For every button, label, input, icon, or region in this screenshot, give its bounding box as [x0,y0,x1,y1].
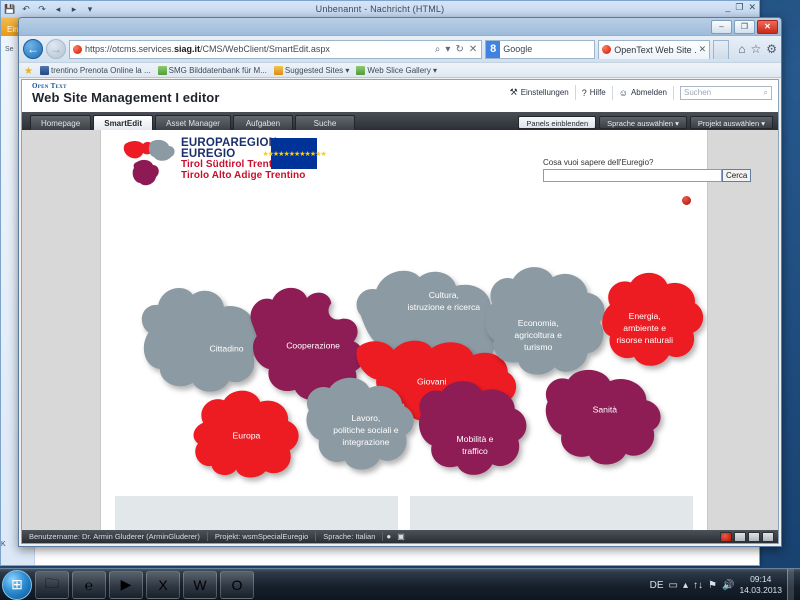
taskbar-item-excel[interactable]: X [146,571,180,599]
network-icon[interactable]: ↑↓ [693,580,703,591]
favorite-item-3[interactable]: Web Slice Gallery ▾ [356,66,437,75]
favorite-icon [40,66,49,75]
euregio-puzzle-logo-icon [123,138,179,190]
address-bar[interactable]: https://otcms.services.siag.it/CMS/WebCl… [69,40,482,59]
favorite-label: SMG Bilddatenbank für M... [169,66,267,75]
outlook-restore-icon[interactable]: ❐ [735,2,743,13]
site-search-row[interactable]: Cerca [543,169,693,182]
help-label: Hilfe [590,88,606,97]
taskbar-item-media-player[interactable]: ▶ [109,571,143,599]
site-search-input[interactable] [543,169,722,182]
clock-time: 09:14 [750,574,771,584]
volume-icon[interactable]: 🔊 [722,580,734,591]
url-path: /CMS/WebClient/SmartEdit.aspx [200,44,330,54]
favorite-icon [158,66,167,75]
status-username: Benutzername: Dr. Armin Gluderer (ArminG… [27,532,208,541]
favorite-item-2[interactable]: Suggested Sites ▾ [274,66,350,75]
forward-button[interactable]: → [46,39,66,59]
browser-titlebar[interactable]: – ❐ ✕ [19,18,781,36]
opentext-tabbar[interactable]: Homepage SmartEdit Asset Manager Aufgabe… [22,112,778,130]
search-icon[interactable]: ⌕ [764,88,768,98]
windows-taskbar[interactable]: ⊞ 🗀 ℮ ▶ X W O DE ▭ ▴ ↑↓ ⚑ 🔊 09:14 14.03.… [0,568,800,600]
label-lavoro-3: integrazione [342,437,389,447]
browser-window-buttons[interactable]: – ❐ ✕ [711,20,778,34]
battery-icon[interactable]: ▭ [669,580,678,591]
keyboard-language-indicator[interactable]: DE [650,580,664,591]
address-bar-url[interactable]: https://otcms.services.siag.it/CMS/WebCl… [85,44,431,54]
chevron-down-icon[interactable]: ▾ [444,44,451,55]
tab-homepage[interactable]: Homepage [30,115,91,130]
show-desktop-button[interactable] [787,569,794,600]
label-economia-3: turismo [524,342,553,352]
browser-window[interactable]: – ❐ ✕ ← → https://otcms.services.siag.it… [18,17,782,547]
browser-search-box[interactable]: 8 Google [485,40,595,59]
bulb-icon[interactable]: ● [383,532,394,541]
tab-suche[interactable]: Suche [295,115,355,130]
favorite-icon [356,66,365,75]
projekt-auswaehlen-dropdown[interactable]: Projekt auswählen ▾ [690,116,773,129]
show-hidden-icons-icon[interactable]: ▴ [683,580,688,591]
opentext-application[interactable]: Open Text Web Site Management I editor ⚒… [21,79,779,544]
search-placeholder: Suchen [684,88,711,97]
label-europa: Europa [233,430,261,440]
site-search-label: Cosa vuoi sapere dell'Euregio? [543,158,693,167]
label-cultura-1: Cultura, [429,290,459,300]
opentext-header: Open Text Web Site Management I editor ⚒… [22,80,778,112]
url-prefix: https://otcms.services. [85,44,174,54]
website-preview-page[interactable]: EUROPAREGION EUREGIO Tirol Südtirol Tren… [100,130,708,530]
outlook-minimize-icon[interactable]: _ [725,2,730,13]
label-economia-2: agricoltura e [514,330,562,340]
home-icon[interactable]: ⌂ [738,42,745,56]
content-box-right[interactable] [410,496,693,530]
tab-smartedit[interactable]: SmartEdit [93,115,153,130]
new-tab-button[interactable] [713,40,729,59]
browser-navigation-bar[interactable]: ← → https://otcms.services.siag.it/CMS/W… [19,36,781,62]
tab-favicon-icon [602,45,611,54]
opentext-search-input[interactable]: Suchen ⌕ [680,86,772,100]
url-domain: siag.it [174,44,200,54]
favorites-bar[interactable]: ★ trentino Prenota Online la ... SMG Bil… [19,62,781,78]
favorite-label: Web Slice Gallery ▾ [367,66,437,75]
clock-date: 14.03.2013 [739,585,782,595]
system-tray[interactable]: DE ▭ ▴ ↑↓ ⚑ 🔊 09:14 14.03.2013 [650,569,800,600]
flag-icon[interactable]: ⚑ [708,580,717,591]
logout-button[interactable]: ☺ Abmelden [613,86,674,100]
label-giovani: Giovani [417,377,446,387]
gear-icon[interactable]: ⚙ [766,42,777,56]
site-search-widget[interactable]: Cosa vuoi sapere dell'Euregio? Cerca [543,158,693,182]
eu-flag-stars: ★★★★★★★★★★★★ [262,150,325,158]
label-energia-2: ambiente e [623,323,666,333]
taskbar-item-internet-explorer[interactable]: ℮ [72,571,106,599]
record-button[interactable] [720,532,732,542]
label-cittadino: Cittadino [209,344,243,354]
label-lavoro-2: politiche sociali e [333,425,399,435]
outlook-close-icon[interactable]: ✕ [748,2,756,13]
status-project: Projekt: wsmSpecialEuregio [208,532,316,541]
label-energia-3: risorse naturali [616,335,673,345]
favorite-item-0[interactable]: trentino Prenota Online la ... [40,66,151,75]
refresh-icon[interactable]: ↻ [454,44,464,55]
content-box-left[interactable] [115,496,398,530]
settings-button[interactable]: ⚒ Einstellungen [504,85,576,100]
favorite-label: trentino Prenota Online la ... [51,66,151,75]
clock[interactable]: 09:14 14.03.2013 [739,574,782,596]
browser-restore-button[interactable]: ❐ [734,20,755,34]
opentext-statusbar: Benutzername: Dr. Armin Gluderer (ArminG… [22,530,778,543]
browser-close-button[interactable]: ✕ [757,20,778,34]
stop-icon[interactable]: ✕ [468,44,478,55]
reload-button[interactable] [748,532,760,542]
add-favorite-icon[interactable]: ★ [24,66,33,75]
browser-tab-opentext[interactable]: OpenText Web Site ... ✕ [598,40,710,59]
site-identity-icon [73,45,82,54]
opentext-user-menu[interactable]: ⚒ Einstellungen ? Hilfe ☺ Abmelden Suche… [504,85,772,100]
taskbar-item-word[interactable]: W [183,571,217,599]
outlook-quick-access-toolbar[interactable]: 💾 ↶ ↷ ◂ ▸ ▾ Unbenannt - Nachricht (HTML)… [1,1,759,18]
panels-einblenden-button[interactable]: Panels einblenden [518,116,596,129]
puzzle-piece-cittadino[interactable] [142,288,263,392]
search-provider-label: Google [503,44,532,54]
tab-asset-manager[interactable]: Asset Manager [155,115,231,130]
eu-flag-icon: ★★★★★★★★★★★★ [271,138,317,169]
taskbar-item-outlook[interactable]: O [220,571,254,599]
monitor-icon[interactable]: ▣ [394,532,408,541]
user-icon: ☺ [619,88,628,98]
label-lavoro-1: Lavoro, [351,413,380,423]
smartedit-canvas[interactable]: EUROPAREGION EUREGIO Tirol Südtirol Tren… [22,130,778,530]
euregio-logo[interactable]: EUROPAREGION EUREGIO Tirol Südtirol Tren… [123,138,393,190]
label-cultura-2: istruzione e ricerca [408,302,481,312]
favorite-item-1[interactable]: SMG Bilddatenbank für M... [158,66,267,75]
label-cooperazione: Cooperazione [286,340,340,350]
label-economia-1: Economia, [518,318,559,328]
puzzle-piece-sanita[interactable] [546,370,661,465]
status-language: Sprache: Italian [316,532,383,541]
search-icon[interactable]: ⌕ [434,44,442,55]
euregio-puzzle-navigation[interactable]: Cittadino Cooperazione Cultura, istruzio… [101,200,707,500]
help-icon: ? [582,88,587,98]
screenshot-button[interactable] [734,532,746,542]
favorites-star-icon[interactable]: ☆ [750,42,761,56]
label-sanita: Sanità [593,404,618,414]
site-search-button[interactable]: Cerca [722,169,751,182]
preview-button[interactable] [762,532,774,542]
browser-tab-label: OpenText Web Site ... [614,45,695,55]
gear-icon: ⚒ [510,87,518,98]
label-mobilita-1: Mobilità e [456,434,493,444]
label-mobilita-2: traffico [462,446,488,456]
favorite-label: Suggested Sites ▾ [285,66,350,75]
outlook-window-buttons[interactable]: _ ❐ ✕ [725,2,756,13]
opentext-right-controls[interactable]: Panels einblenden Sprache auswählen ▾ Pr… [518,116,773,129]
back-button[interactable]: ← [23,39,43,59]
favorite-icon [274,66,283,75]
tab-aufgaben[interactable]: Aufgaben [233,115,293,130]
label-energia-1: Energia, [629,311,661,321]
logo-line-tirol-it: Tirolo Alto Adige Trentino [181,171,305,182]
logout-label: Abmelden [631,88,667,97]
google-icon: 8 [486,41,500,58]
close-icon[interactable]: ✕ [699,44,707,55]
statusbar-buttons[interactable] [720,532,774,542]
browser-minimize-button[interactable]: – [711,20,732,34]
settings-label: Einstellungen [521,88,569,97]
outlook-window-title: Unbenannt - Nachricht (HTML) [1,4,759,14]
taskbar-item-explorer[interactable]: 🗀 [35,571,69,599]
sprache-auswaehlen-dropdown[interactable]: Sprache auswählen ▾ [599,116,687,129]
browser-command-icons[interactable]: ⌂ ☆ ⚙ [732,42,777,56]
site-bottom-content-boxes[interactable] [115,496,693,530]
start-button[interactable]: ⊞ [2,570,32,600]
help-button[interactable]: ? Hilfe [576,86,613,100]
